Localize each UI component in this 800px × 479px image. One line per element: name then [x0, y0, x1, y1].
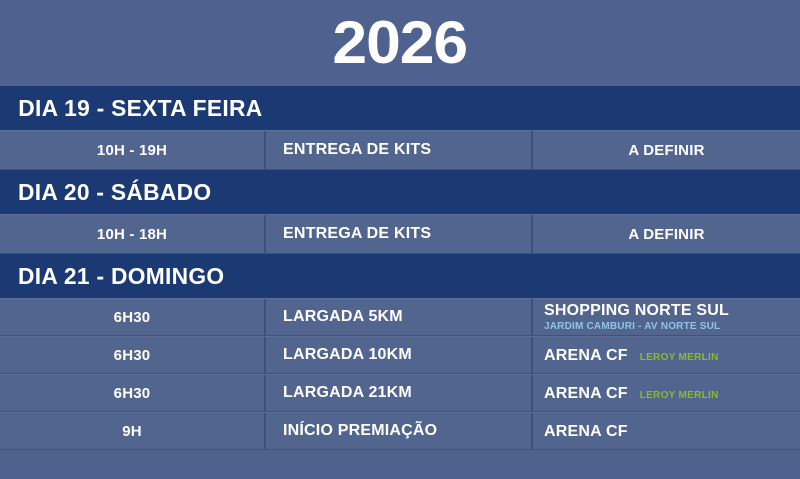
row-event-cell: LARGADA 21KM — [266, 375, 533, 411]
row-time-cell: 6H30 — [0, 375, 266, 411]
row-time-cell: 6H30 — [0, 337, 266, 373]
sponsor-tag: LEROY MERLIN — [640, 352, 719, 363]
poster-title-band: 2026 — [0, 0, 800, 86]
schedule-row: 10H - 19HENTREGA DE KITSA DEFINIR — [0, 130, 800, 170]
place-inline: ARENA CFLEROY MERLIN — [544, 385, 719, 402]
row-event-cell: LARGADA 10KM — [266, 337, 533, 373]
schedule-row: 10H - 18HENTREGA DE KITSA DEFINIR — [0, 214, 800, 254]
row-place-cell: ARENA CF — [533, 413, 800, 449]
schedule-row: 6H30LARGADA 5KMSHOPPING NORTE SULJARDIM … — [0, 298, 800, 336]
schedule-table: DIA 19 - SEXTA FEIRA10H - 19HENTREGA DE … — [0, 86, 800, 450]
place-name: ARENA CF — [544, 347, 628, 364]
row-place-cell: ARENA CFLEROY MERLIN — [533, 337, 800, 373]
schedule-row: 6H30LARGADA 21KMARENA CFLEROY MERLIN — [0, 374, 800, 412]
row-time-cell: 9H — [0, 413, 266, 449]
row-place-cell: A DEFINIR — [533, 131, 800, 169]
place-stack: SHOPPING NORTE SULJARDIM CAMBURI - AV NO… — [544, 302, 729, 333]
day-header-label: DIA 20 - SÁBADO — [18, 181, 211, 204]
event-schedule-poster: 2026 DIA 19 - SEXTA FEIRA10H - 19HENTREG… — [0, 0, 800, 479]
row-event-cell: LARGADA 5KM — [266, 299, 533, 335]
place-inline: ARENA CFLEROY MERLIN — [544, 347, 719, 364]
row-place-cell: SHOPPING NORTE SULJARDIM CAMBURI - AV NO… — [533, 299, 800, 335]
page-title: 2026 — [333, 13, 468, 73]
schedule-row: 9HINÍCIO PREMIAÇÃOARENA CF — [0, 412, 800, 450]
day-header-label: DIA 19 - SEXTA FEIRA — [18, 97, 262, 120]
day-header-band: DIA 21 - DOMINGO — [0, 254, 800, 298]
row-place-cell: ARENA CFLEROY MERLIN — [533, 375, 800, 411]
row-time-cell: 10H - 19H — [0, 131, 266, 169]
row-event-cell: ENTREGA DE KITS — [266, 215, 533, 253]
row-time-cell: 6H30 — [0, 299, 266, 335]
place-name: ARENA CF — [544, 423, 628, 440]
place-name: A DEFINIR — [628, 226, 704, 243]
place-address: JARDIM CAMBURI - AV NORTE SUL — [544, 320, 729, 333]
place-name: ARENA CF — [544, 385, 628, 402]
row-place-cell: A DEFINIR — [533, 215, 800, 253]
row-time-cell: 10H - 18H — [0, 215, 266, 253]
place-name: SHOPPING NORTE SUL — [544, 302, 729, 319]
schedule-row: 6H30LARGADA 10KMARENA CFLEROY MERLIN — [0, 336, 800, 374]
row-event-cell: ENTREGA DE KITS — [266, 131, 533, 169]
day-header-label: DIA 21 - DOMINGO — [18, 265, 224, 288]
day-header-band: DIA 20 - SÁBADO — [0, 170, 800, 214]
row-event-cell: INÍCIO PREMIAÇÃO — [266, 413, 533, 449]
day-header-band: DIA 19 - SEXTA FEIRA — [0, 86, 800, 130]
sponsor-tag: LEROY MERLIN — [640, 390, 719, 401]
place-name: A DEFINIR — [628, 142, 704, 159]
